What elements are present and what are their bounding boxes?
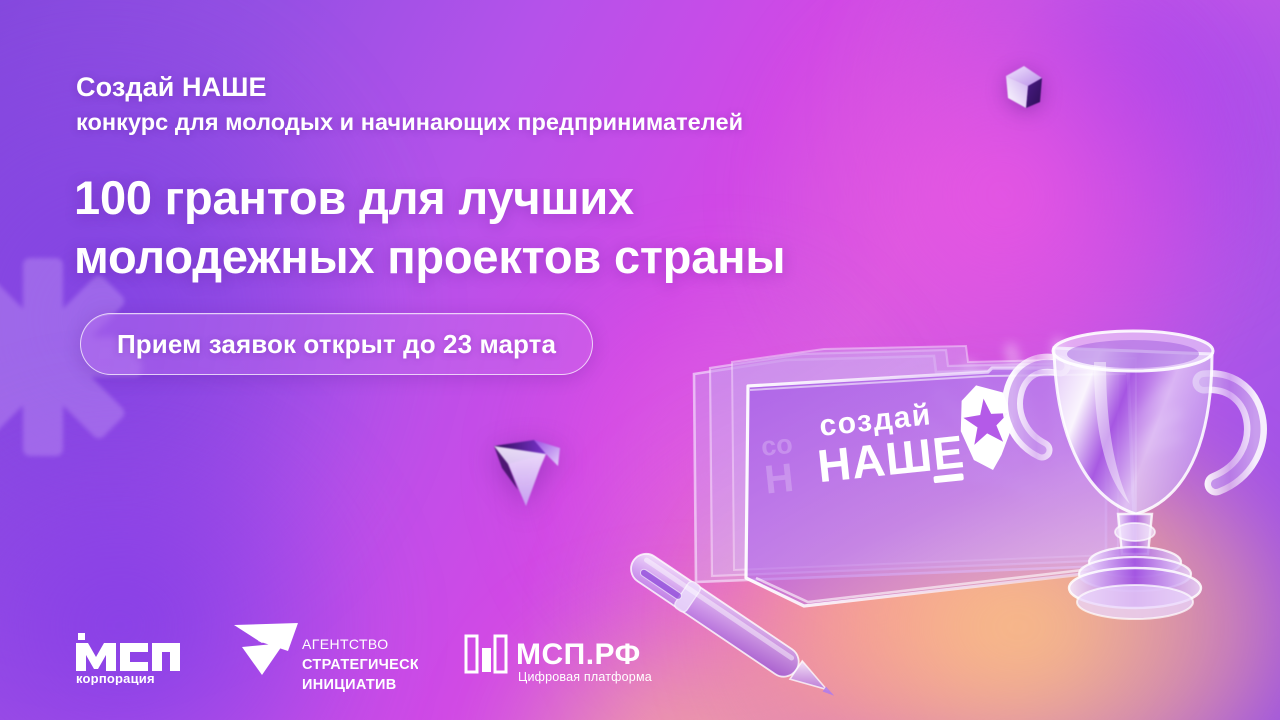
contest-subtitle: конкурс для молодых и начинающих предпри… xyxy=(76,109,976,137)
deadline-badge[interactable]: Прием заявок открыт до 23 марта xyxy=(80,313,593,375)
asi-arrow-icon: АГЕНТСТВО СТРАТЕГИЧЕСКИХ ИНИЦИАТИВ xyxy=(228,621,418,695)
contest-name: Создай НАШЕ xyxy=(76,72,976,103)
logo-msp-korporaciya[interactable]: корпорация xyxy=(72,631,184,685)
svg-text:СТРАТЕГИЧЕСКИХ: СТРАТЕГИЧЕСКИХ xyxy=(302,657,418,673)
msp-korporaciya-icon: корпорация xyxy=(72,631,184,685)
svg-text:корпорация: корпорация xyxy=(76,671,155,685)
headline-line-1: 100 грантов для лучших xyxy=(74,168,1004,227)
svg-text:МСП.РФ: МСП.РФ xyxy=(516,638,641,671)
page-title: 100 грантов для лучших молодежных проект… xyxy=(74,168,1004,286)
partner-logos: корпорация АГЕНТСТВО СТРАТЕГИЧЕСКИХ ИНИЦ… xyxy=(72,618,656,698)
headline-line-2: молодежных проектов страны xyxy=(74,227,1004,286)
logo-msp-rf[interactable]: МСП.РФ Цифровая платформа xyxy=(464,630,656,686)
logo-asi[interactable]: АГЕНТСТВО СТРАТЕГИЧЕСКИХ ИНИЦИАТИВ xyxy=(228,621,418,695)
msp-rf-bars-icon: МСП.РФ Цифровая платформа xyxy=(464,630,656,686)
promo-banner: со Н создай НАШЕ xyxy=(0,0,1280,720)
svg-text:ИНИЦИАТИВ: ИНИЦИАТИВ xyxy=(302,677,397,693)
banner-content: Создай НАШЕ конкурс для молодых и начина… xyxy=(0,0,1280,720)
svg-text:Цифровая платформа: Цифровая платформа xyxy=(518,670,652,684)
svg-text:АГЕНТСТВО: АГЕНТСТВО xyxy=(302,636,388,652)
eyebrow-block: Создай НАШЕ конкурс для молодых и начина… xyxy=(76,72,976,137)
